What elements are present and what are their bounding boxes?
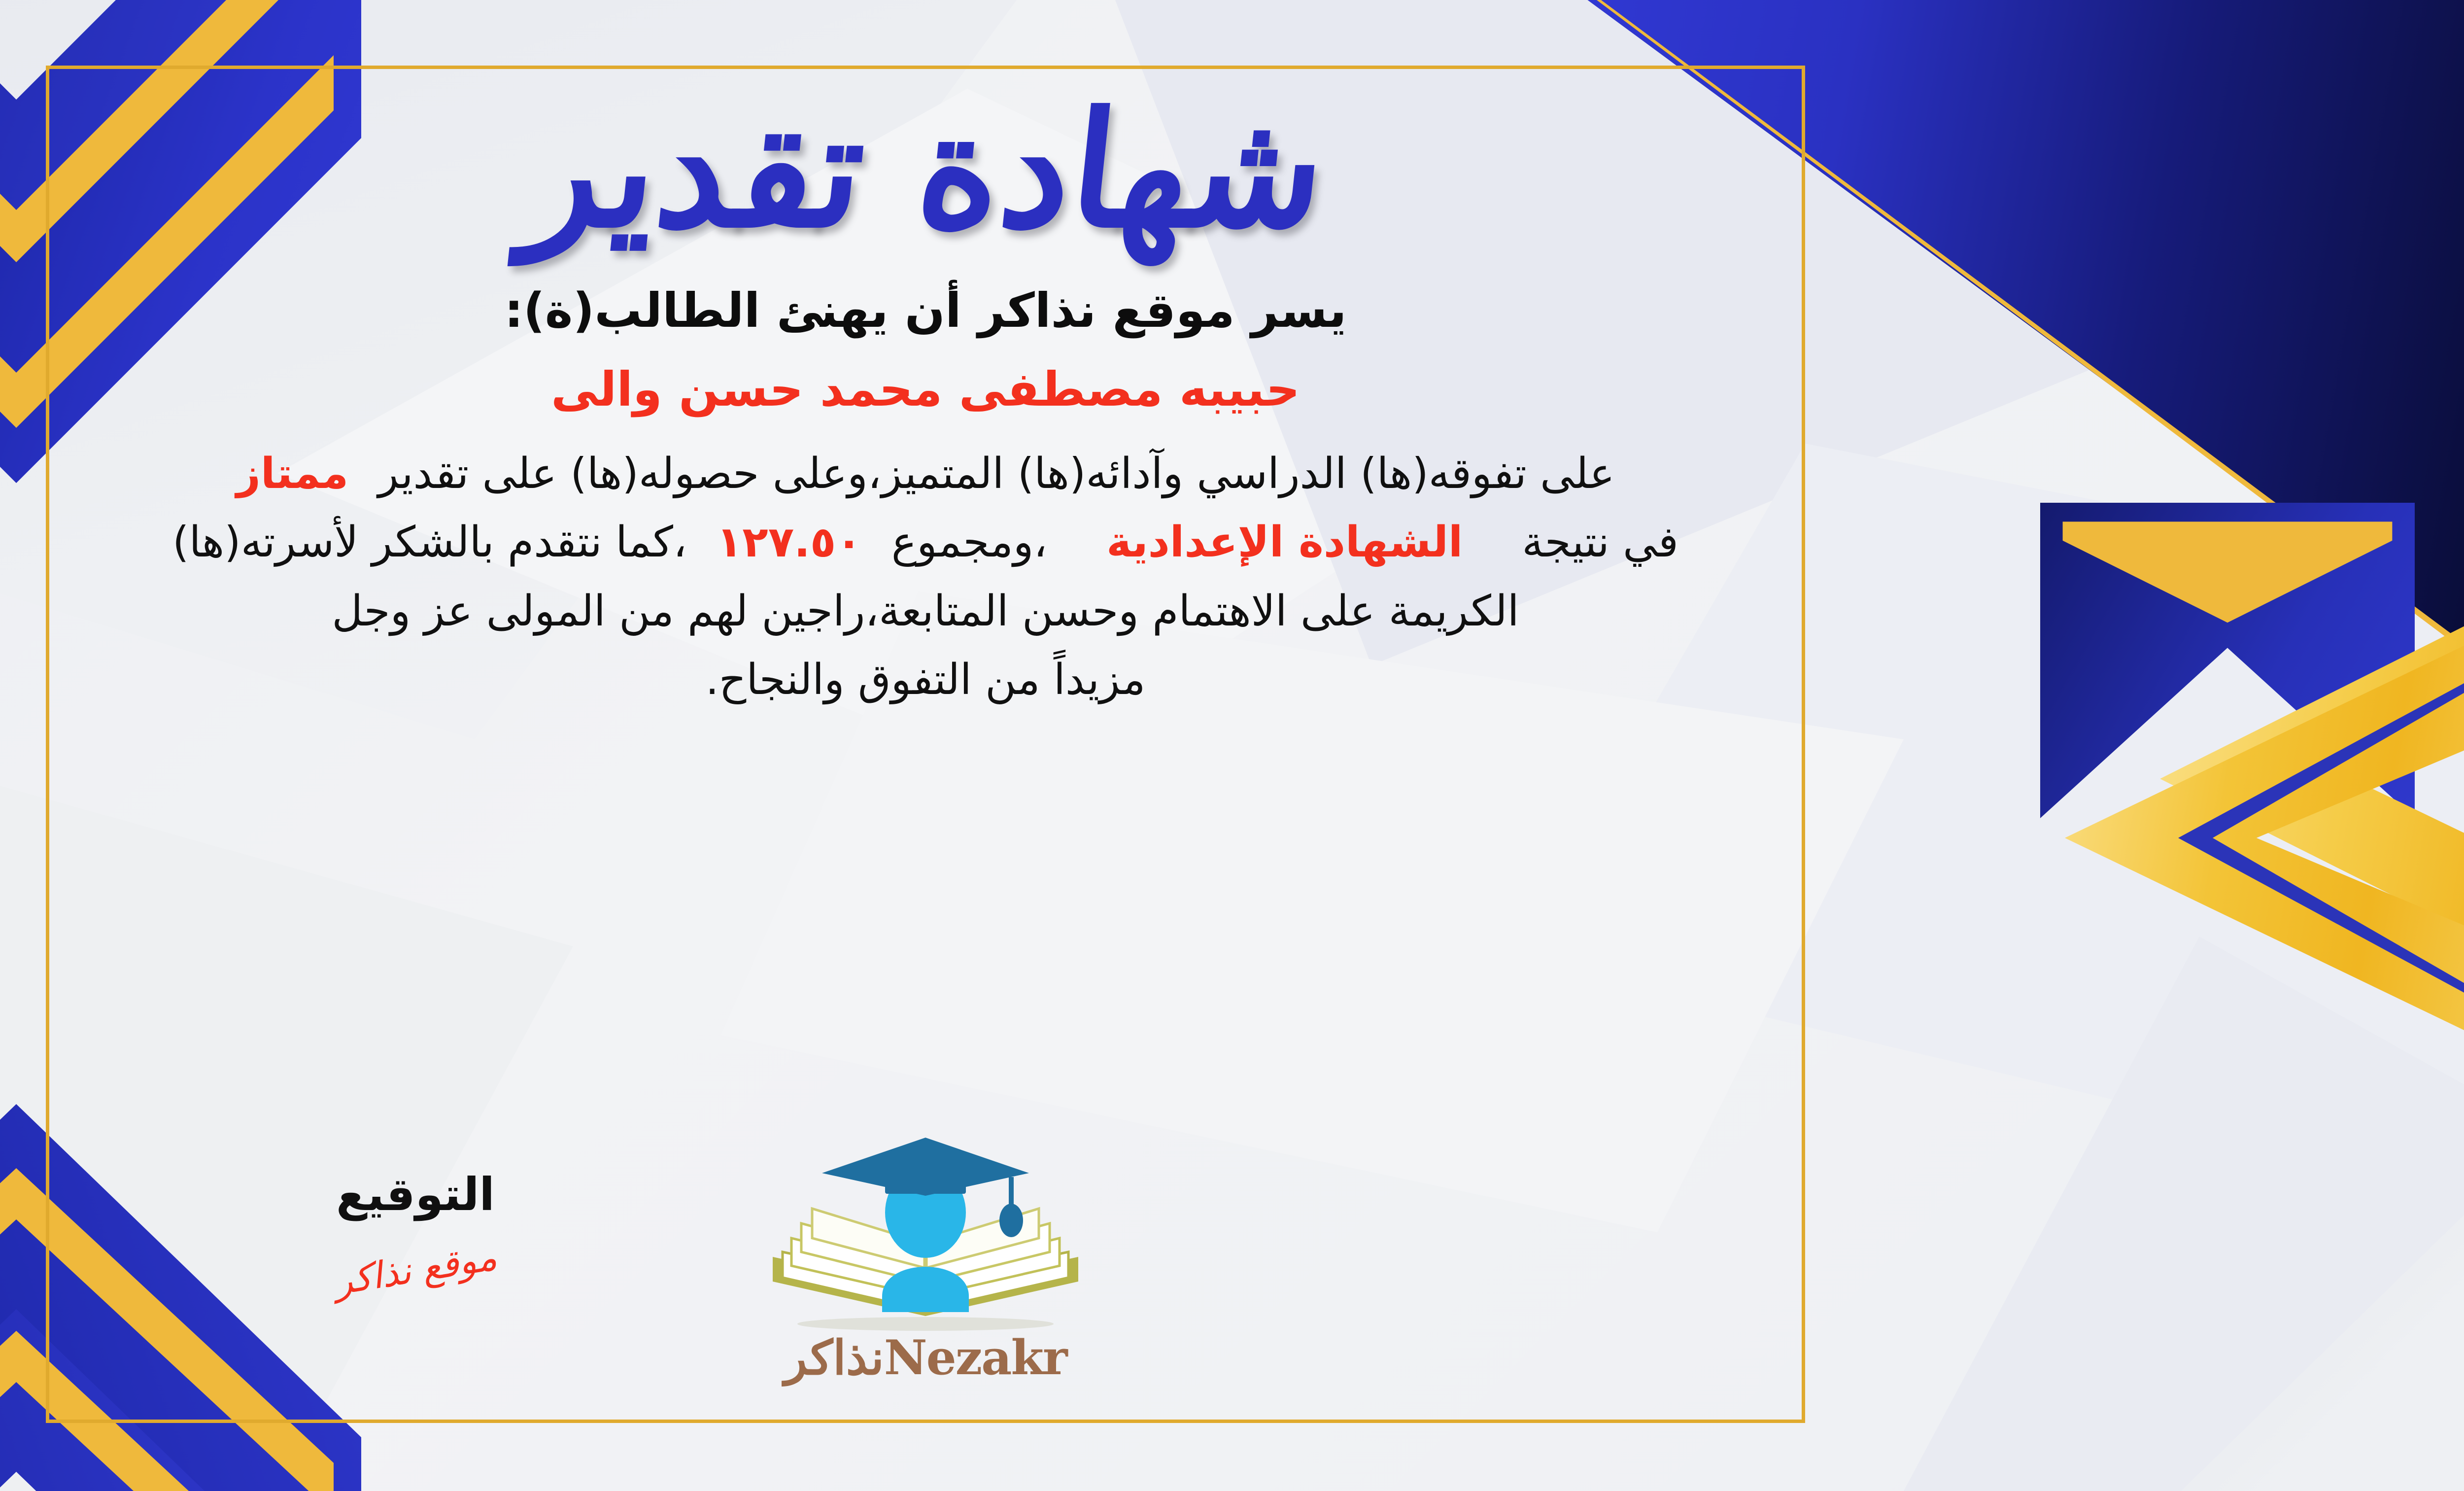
certificate-canvas: شهادة تقدير يسر موقع نذاكر أن يهنئ الطال…	[0, 0, 2464, 1491]
certificate-content: شهادة تقدير يسر موقع نذاكر أن يهنئ الطال…	[61, 74, 1790, 1415]
logo-wordmark: Nezakrنذاكر	[738, 1330, 1113, 1386]
signature-label: التوقيع	[263, 1168, 568, 1221]
certificate-body: على تفوقه(ها) الدراسي وآدائه(ها) المتميز…	[61, 440, 1790, 714]
student-name: حبيبه مصطفى محمد حسن والى	[61, 360, 1790, 419]
body-segment-2: في نتيجة	[1522, 518, 1678, 567]
body-segment-3: ،ومجموع	[891, 518, 1047, 567]
logo-wordmark-en: Nezakr	[884, 1330, 1067, 1386]
signature-mark: موقع نذاكر	[331, 1236, 500, 1304]
certificate-footer: التوقيع موقع نذاكر	[61, 1109, 1790, 1385]
intro-text: يسر موقع نذاكر أن يهنئ الطالب(ة):	[61, 281, 1790, 340]
corner-ornament-bottom-right	[2119, 1215, 2464, 1491]
site-logo: Nezakrنذاكر	[738, 1134, 1113, 1386]
body-segment-4: ،كما نتقدم بالشكر لأسرته(ها)	[172, 518, 687, 567]
certificate-title: شهادة تقدير	[52, 88, 1799, 253]
frame-border-bottom	[46, 1420, 1805, 1423]
exam-name: الشهادة الإعدادية	[1106, 518, 1463, 567]
signature-block: التوقيع موقع نذاكر	[263, 1168, 568, 1291]
score-value: ١٢٧.٥٠	[717, 518, 862, 567]
frame-border-top	[46, 66, 1805, 69]
body-segment-1: على تفوقه(ها) الدراسي وآدائه(ها) المتميز…	[378, 449, 1615, 498]
gold-chevron-right	[2065, 582, 2464, 1094]
graduation-book-logo-icon	[753, 1134, 1098, 1341]
body-segment-6: مزيداً من التفوق والنجاح.	[706, 655, 1146, 704]
logo-wordmark-ar: نذاكر	[784, 1330, 884, 1386]
frame-border-left	[46, 66, 49, 1423]
body-segment-5: الكريمة على الاهتمام وحسن المتابعة،راجين…	[332, 587, 1519, 636]
grade-value: ممتاز	[236, 449, 348, 498]
frame-border-right	[1802, 66, 1805, 1423]
